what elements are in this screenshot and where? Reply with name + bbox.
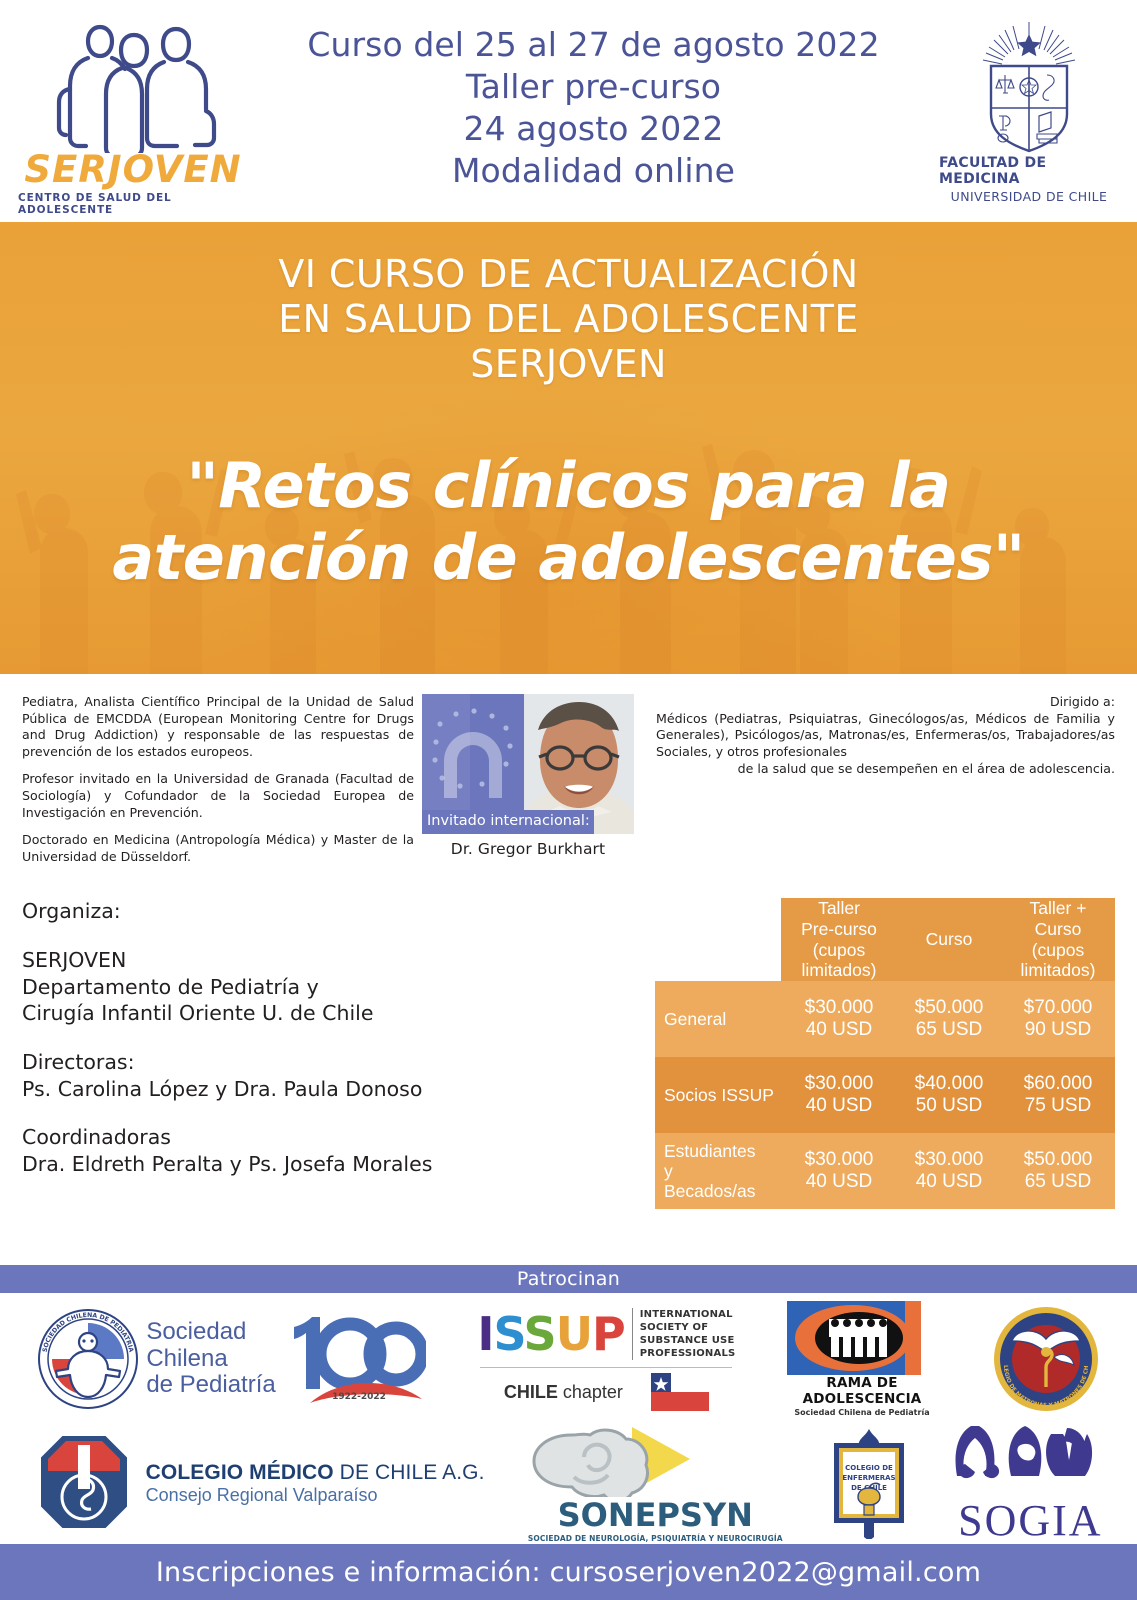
speaker-photo-block: Invitado internacional: [422,694,634,834]
pricing-cell-socios-taller: $30.000 40 USD [781,1057,897,1133]
colegio-matronas-seal-icon: COLEGIO DE MATRONAS Y MATRONES DE CHILE [992,1305,1100,1413]
sponsor-sogia: SOGIA [955,1420,1105,1546]
rama-title: RAMA DE ADOLESCENCIA [787,1375,937,1407]
colegio-medico-icon [32,1427,136,1539]
rama-adolescencia-icon [787,1301,935,1375]
organiza-entity: SERJOVEN Departamento de Pediatría y Cir… [22,947,452,1027]
pricing-table-body: General $30.000 40 USD $50.000 65 USD $7… [655,981,1115,1209]
svg-text:ENFERMERAS: ENFERMERAS [842,1474,895,1482]
title-banner: VI CURSO DE ACTUALIZACIÓN EN SALUD DEL A… [0,222,1137,674]
poster-body: Pediatra, Analista Científico Principal … [0,674,1137,1265]
banner-subtitle: "Retos clínicos para la atención de adol… [0,450,1137,595]
audience-text: Médicos (Pediatras, Psiquiatras, Ginecól… [656,711,1115,759]
serjoven-wordmark: SERJOVEN [24,151,241,188]
poster-header: SERJOVEN CENTRO DE SALUD DEL ADOLESCENTE… [0,0,1137,222]
directoras-block: Directoras: Ps. Carolina López y Dra. Pa… [22,1049,452,1102]
sogia-logo: SOGIA [955,1420,1105,1546]
issup-chapter-light: chapter [558,1382,623,1402]
uchile-university-label: UNIVERSIDAD DE CHILE [951,189,1108,204]
banner-title-line-1: VI CURSO DE ACTUALIZACIÓN [278,252,858,296]
sogia-wordmark: SOGIA [955,1495,1105,1546]
banner-subtitle-line-2: atención de adolescentes" [112,521,1024,594]
pricing-corner-cell [655,898,781,981]
issup-description: INTERNATIONAL SOCIETY OF SUBSTANCE USE P… [632,1308,736,1361]
sochipe-seal-icon: SOCIEDAD CHILENA DE PEDIATRIA [37,1308,139,1410]
pricing-row-label-socios-issup: Socios ISSUP [655,1057,781,1133]
sponsor-row-bottom: COLEGIO MÉDICO DE CHILE A.G. Consejo Reg… [10,1421,1127,1545]
invitado-internacional-badge: Invitado internacional: [422,810,594,834]
colegio-medico-rest: DE CHILE A.G. [334,1461,485,1484]
svg-text:COLEGIO DE: COLEGIO DE [845,1464,893,1472]
issup-chapter-row: CHILE chapter [480,1367,732,1411]
colegio-enfermeras-icon: COLEGIO DE ENFERMERAS DE CHILE [826,1427,912,1539]
universidad-de-chile-logo: FACULTAD DE MEDICINA UNIVERSIDAD DE CHIL… [939,18,1119,204]
uchile-crest-icon [969,18,1089,153]
coordinadoras-block: Coordinadoras Dra. Eldreth Peralta y Ps.… [22,1124,452,1177]
pricing-cell-general-ambos: $70.000 90 USD [1001,981,1115,1057]
sonepsyn-word-text: SONEPSYN [558,1496,753,1534]
sponsor-logos: SOCIEDAD CHILENA DE PEDIATRIA Sociedad C… [0,1293,1137,1544]
coordinadoras-names: Dra. Eldreth Peralta y Ps. Josefa Morale… [22,1151,452,1178]
issup-top-row: ISSUP INTERNATIONAL SOCIETY OF SUBSTANCE… [477,1307,735,1361]
issup-logo: ISSUP INTERNATIONAL SOCIETY OF SUBSTANCE… [480,1307,732,1411]
table-row: General $30.000 40 USD $50.000 65 USD $7… [655,981,1115,1057]
pricing-cell-socios-ambos: $60.000 75 USD [1001,1057,1115,1133]
colegio-medico-bold: COLEGIO MÉDICO [146,1461,334,1484]
pricing-row-label-general: General [655,981,781,1057]
organiza-section: Organiza: SERJOVEN Departamento de Pedia… [22,898,452,1209]
pricing-cell-estudiantes-ambos: $50.000 65 USD [1001,1133,1115,1209]
rama-logo: RAMA DE ADOLESCENCIA Sociedad Chilena de… [787,1301,937,1417]
centenary-icon: 1922-2022 [276,1307,426,1411]
sogia-figures-icon [955,1420,1105,1494]
pricing-col-taller-mas-curso: Taller + Curso (cupos limitados) [1001,898,1115,981]
serjoven-figures-icon [38,13,228,153]
sonepsyn-wordmark: SONEPSYN [528,1496,783,1534]
pricing-cell-estudiantes-taller: $30.000 40 USD [781,1133,897,1209]
table-row: Socios ISSUP $30.000 40 USD $40.000 50 U… [655,1057,1115,1133]
banner-title-line-2: EN SALUD DEL ADOLESCENTE [278,297,859,341]
uchile-faculty-label: FACULTAD DE MEDICINA [939,155,1119,187]
audience-heading: Dirigido a: [656,694,1115,711]
issup-wordmark: ISSUP [477,1307,624,1361]
sochipe-100-years-icon: 1922-2022 [276,1307,426,1411]
colegio-medico-text: COLEGIO MÉDICO DE CHILE A.G. Consejo Reg… [146,1461,485,1506]
sponsor-rama-adolescencia: RAMA DE ADOLESCENCIA Sociedad Chilena de… [787,1301,937,1417]
audience-last-line: de la salud que se desempeñen en el área… [656,761,1115,778]
organiza-heading: Organiza: [22,898,452,925]
pricing-col-curso: Curso [897,898,1001,981]
colegio-medico-line2: Consejo Regional Valparaíso [146,1485,485,1506]
sonepsyn-logo: SONEPSYN SOCIEDAD DE NEUROLOGÍA, PSIQUIA… [528,1423,783,1543]
serjoven-logo: SERJOVEN CENTRO DE SALUD DEL ADOLESCENTE [18,7,248,216]
speaker-card: Invitado internacional: Dr. Gregor Burkh… [414,692,642,876]
directoras-label: Directoras: [22,1049,452,1076]
sponsor-colegio-enfermeras: COLEGIO DE ENFERMERAS DE CHILE [826,1427,912,1539]
rama-subtitle: Sociedad Chilena de Pediatría [787,1408,937,1417]
pricing-cell-general-curso: $50.000 65 USD [897,981,1001,1057]
sponsor-issup: ISSUP INTERNATIONAL SOCIETY OF SUBSTANCE… [480,1307,732,1411]
directoras-names: Ps. Carolina López y Dra. Paula Donoso [22,1076,452,1103]
pricing-cell-socios-curso: $40.000 50 USD [897,1057,1001,1133]
sponsor-sonepsyn: SONEPSYN SOCIEDAD DE NEUROLOGÍA, PSIQUIA… [528,1423,783,1543]
speaker-and-audience-row: Pediatra, Analista Científico Principal … [0,674,1137,876]
header-date-line-3: 24 agosto 2022 [248,108,939,150]
speaker-bio-paragraph-3: Doctorado en Medicina (Antropología Médi… [22,832,414,865]
pricing-table-wrapper: Taller Pre-curso (cupos limitados) Curso… [452,898,1115,1209]
speaker-bio-paragraph-1: Pediatra, Analista Científico Principal … [22,694,414,760]
sonepsyn-subtitle: SOCIEDAD DE NEUROLOGÍA, PSIQUIATRÍA Y NE… [528,1534,783,1543]
pricing-cell-estudiantes-curso: $30.000 40 USD [897,1133,1001,1209]
header-date-line-2: Taller pre-curso [248,66,939,108]
colegio-medico-line1: COLEGIO MÉDICO DE CHILE A.G. [146,1461,485,1485]
coordinadoras-label: Coordinadoras [22,1124,452,1151]
emcdda-arch-icon [444,732,502,798]
banner-subtitle-line-1: "Retos clínicos para la [186,449,950,522]
centenary-years: 1922-2022 [332,1392,386,1402]
table-row: Estudiantes y Becados/as $30.000 40 USD … [655,1133,1115,1209]
banner-title: VI CURSO DE ACTUALIZACIÓN EN SALUD DEL A… [0,252,1137,388]
sonepsyn-brain-icon [528,1423,720,1497]
contact-footer: Inscripciones e información: cursoserjov… [0,1544,1137,1600]
sponsor-sociedad-chilena-pediatria: SOCIEDAD CHILENA DE PEDIATRIA Sociedad C… [37,1307,425,1411]
issup-chapter-bold: CHILE [504,1382,558,1402]
patrocinan-bar: Patrocinan [0,1265,1137,1293]
sponsor-row-top: SOCIEDAD CHILENA DE PEDIATRIA Sociedad C… [10,1297,1127,1421]
issup-chapter-label: CHILE chapter [504,1382,623,1403]
pricing-cell-general-taller: $30.000 40 USD [781,981,897,1057]
pricing-table-head: Taller Pre-curso (cupos limitados) Curso… [655,898,1115,981]
sochipe-name: Sociedad Chilena de Pediatría [146,1319,275,1400]
target-audience: Dirigido a: Médicos (Pediatras, Psiquiat… [642,692,1115,876]
speaker-name: Dr. Gregor Burkhart [451,840,605,858]
pricing-table: Taller Pre-curso (cupos limitados) Curso… [655,898,1115,1209]
serjoven-tagline: CENTRO DE SALUD DEL ADOLESCENTE [18,192,248,216]
pricing-header-row: Taller Pre-curso (cupos limitados) Curso… [655,898,1115,981]
pricing-row-label-estudiantes: Estudiantes y Becados/as [655,1133,781,1209]
organizers-and-pricing-row: Organiza: SERJOVEN Departamento de Pedia… [0,898,1137,1209]
speaker-biography: Pediatra, Analista Científico Principal … [22,692,414,876]
chile-flag-icon [651,1373,709,1411]
speaker-bio-paragraph-2: Profesor invitado en la Universidad de G… [22,771,414,821]
header-dates: Curso del 25 al 27 de agosto 2022 Taller… [248,24,939,199]
pricing-col-taller-precurso: Taller Pre-curso (cupos limitados) [781,898,897,981]
poster-root: SERJOVEN CENTRO DE SALUD DEL ADOLESCENTE… [0,0,1137,1600]
header-date-line-1: Curso del 25 al 27 de agosto 2022 [248,24,939,66]
banner-title-line-3: SERJOVEN [470,342,667,386]
sponsor-colegio-medico: COLEGIO MÉDICO DE CHILE A.G. Consejo Reg… [32,1427,485,1539]
sponsor-colegio-matronas: COLEGIO DE MATRONAS Y MATRONES DE CHILE [992,1305,1100,1413]
header-date-line-4: Modalidad online [248,150,939,192]
